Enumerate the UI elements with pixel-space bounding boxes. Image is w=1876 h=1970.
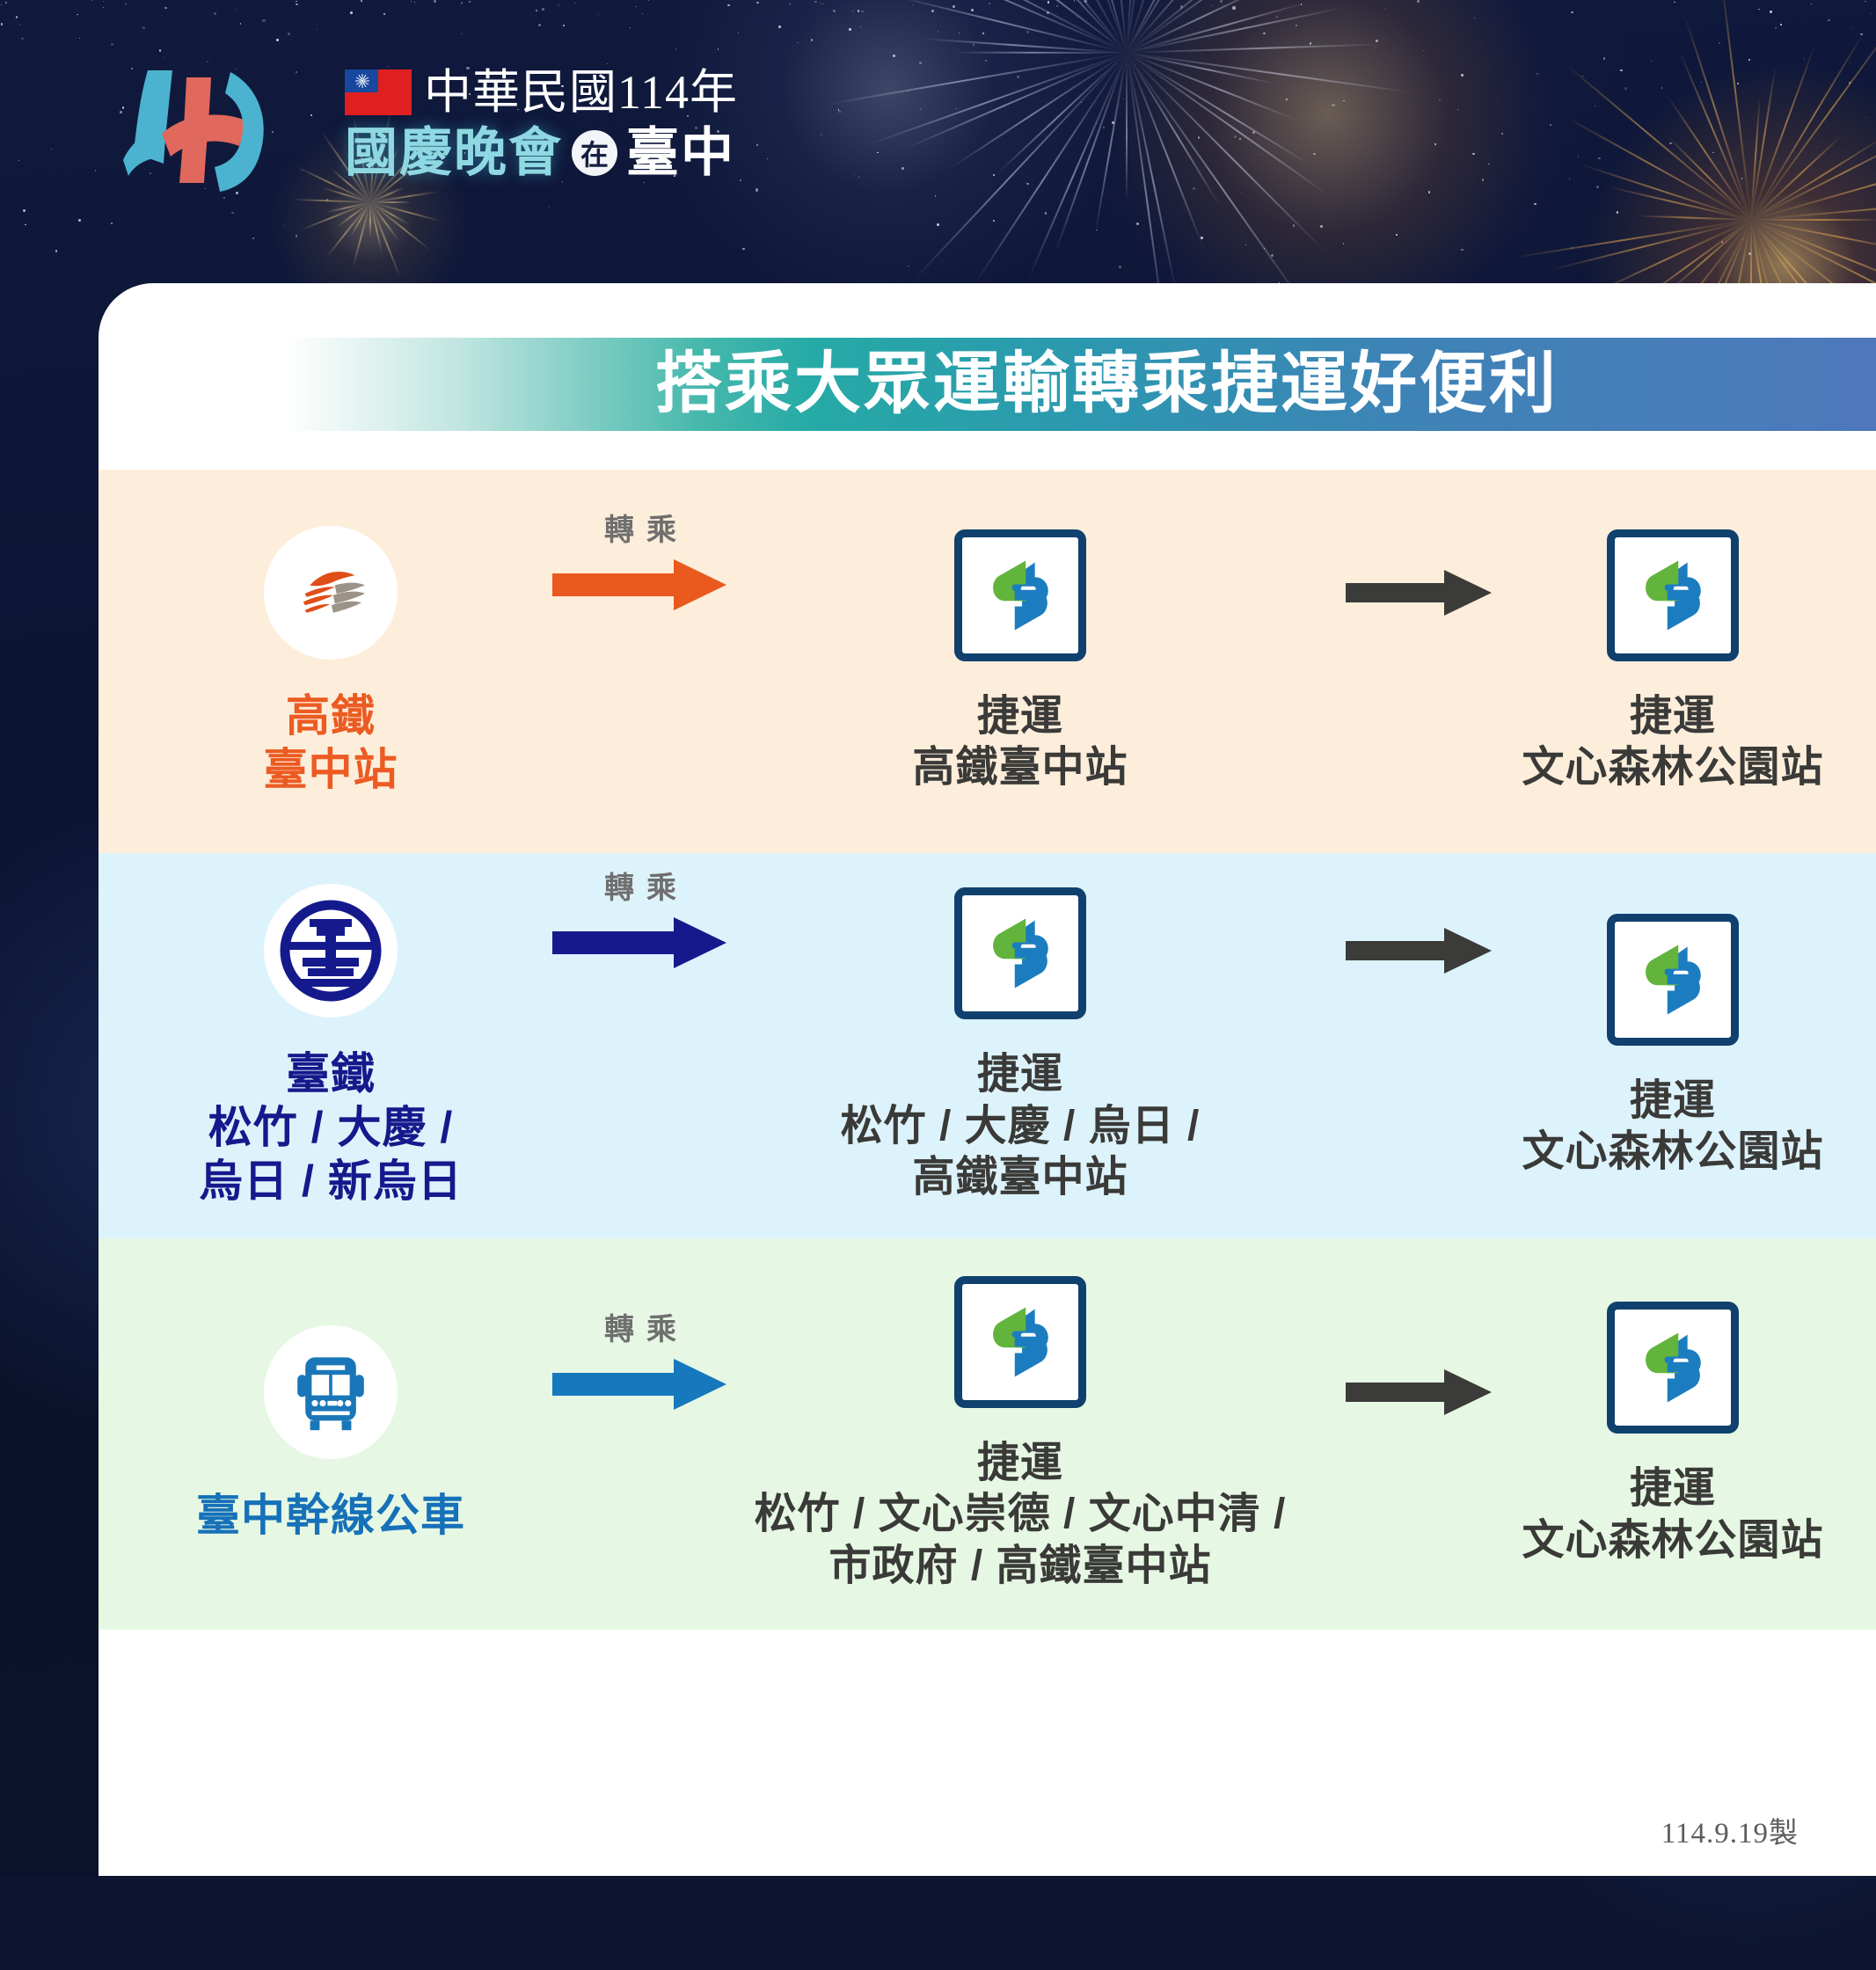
roc-flag-icon bbox=[345, 69, 412, 115]
origin-label-line-2: 松竹 / 大慶 / bbox=[158, 1101, 503, 1155]
route-origin-tra: 臺鐵松竹 / 大慶 /烏日 / 新烏日 bbox=[158, 884, 503, 1208]
transfer-arrow-icon bbox=[552, 916, 728, 970]
taichung-mrt-logo-box bbox=[954, 887, 1086, 1019]
destination-label-line-1: 捷運 bbox=[1471, 1463, 1875, 1515]
event-logo-text: 中華民國114年 國慶晚會 在 臺中 bbox=[345, 69, 738, 179]
transfer-arrow-group-tra: 轉乘 bbox=[517, 864, 763, 970]
middle-label-line-1: 捷運 bbox=[739, 1049, 1302, 1101]
footer-note: 114.9.19製 bbox=[1661, 1809, 1799, 1851]
taichung-mrt-logo-icon bbox=[974, 908, 1066, 999]
taichung-mrt-logo-icon bbox=[1627, 550, 1719, 641]
destination-label-line-2: 文心森林公園站 bbox=[1471, 1127, 1875, 1178]
hsr-logo-icon bbox=[285, 547, 376, 638]
taichung-mrt-logo-box bbox=[1607, 1302, 1739, 1434]
route-transfer-station-bus: 捷運松竹 / 文心崇德 / 文心中清 /市政府 / 高鐵臺中站 bbox=[739, 1276, 1302, 1593]
transfer-label: 轉乘 bbox=[517, 864, 763, 907]
middle-label-line-1: 捷運 bbox=[739, 1438, 1302, 1490]
tra-logo-icon-wrapper bbox=[264, 884, 398, 1018]
middle-label-line-2: 松竹 / 大慶 / 烏日 / bbox=[739, 1101, 1302, 1153]
origin-label-line-1: 高鐵 bbox=[158, 689, 503, 743]
roc-year-text: 中華民國114年 bbox=[424, 69, 738, 116]
transfer-route-row: 臺鐵松竹 / 大慶 /烏日 / 新烏日轉乘 捷運松竹 / 大慶 / 烏日 /高鐵… bbox=[99, 853, 1876, 1238]
event-city-text: 臺中 bbox=[626, 127, 735, 179]
transfer-label: 轉乘 bbox=[517, 506, 763, 549]
route-destination-bus: 捷運文心森林公園站 bbox=[1471, 1302, 1875, 1566]
destination-label-line-1: 捷運 bbox=[1471, 691, 1875, 743]
middle-label-line-3: 高鐵臺中站 bbox=[739, 1152, 1302, 1204]
transfer-label: 轉乘 bbox=[517, 1305, 763, 1348]
middle-label-line-2: 松竹 / 文心崇德 / 文心中清 / bbox=[739, 1489, 1302, 1541]
transfer-arrow-icon bbox=[552, 1357, 728, 1412]
transfer-arrow-icon bbox=[552, 558, 728, 612]
transfer-route-list: 高鐵臺中站轉乘 捷運高鐵臺中站 捷運文心森林公園站 臺鐵松竹 / 大慶 /烏日 … bbox=[99, 470, 1876, 1630]
taichung-mrt-logo-icon bbox=[1627, 1322, 1719, 1413]
transfer-route-row: 高鐵臺中站轉乘 捷運高鐵臺中站 捷運文心森林公園站 bbox=[99, 470, 1876, 853]
event-logo-line-1: 中華民國114年 bbox=[345, 69, 738, 116]
route-destination-hsr: 捷運文心森林公園站 bbox=[1471, 529, 1875, 794]
route-transfer-station-hsr: 捷運高鐵臺中站 bbox=[739, 529, 1302, 794]
origin-label-line-1: 臺鐵 bbox=[158, 1047, 503, 1101]
route-destination-tra: 捷運文心森林公園站 bbox=[1471, 914, 1875, 1178]
middle-label-line-3: 市政府 / 高鐵臺中站 bbox=[739, 1541, 1302, 1593]
taichung-mrt-logo-box bbox=[1607, 529, 1739, 661]
route-origin-hsr: 高鐵臺中站 bbox=[158, 526, 503, 797]
bus-icon bbox=[283, 1345, 378, 1440]
origin-label-line-2: 臺中站 bbox=[158, 743, 503, 797]
middle-label-line-1: 捷運 bbox=[739, 691, 1302, 743]
tra-logo-icon bbox=[278, 898, 383, 1003]
middle-label-line-2: 高鐵臺中站 bbox=[739, 742, 1302, 794]
destination-label-line-1: 捷運 bbox=[1471, 1076, 1875, 1127]
origin-label-line-3: 烏日 / 新烏日 bbox=[158, 1155, 503, 1208]
transfer-arrow-group-hsr: 轉乘 bbox=[517, 506, 763, 612]
taichung-mrt-logo-box bbox=[1607, 914, 1739, 1046]
event-header: 中華民國114年 國慶晚會 在 臺中 bbox=[0, 0, 1876, 264]
destination-label-line-2: 文心森林公園站 bbox=[1471, 742, 1875, 794]
taichung-mrt-logo-box bbox=[954, 1276, 1086, 1408]
taichung-mrt-logo-icon bbox=[974, 1296, 1066, 1388]
transfer-arrow-group-bus: 轉乘 bbox=[517, 1305, 763, 1412]
event-logo-brushmark bbox=[107, 55, 327, 195]
event-logo-line-2: 國慶晚會 在 臺中 bbox=[345, 127, 738, 179]
banner-title-bar: 搭乘大眾運輸轉乘捷運好便利 bbox=[285, 338, 1876, 431]
hsr-logo-icon-wrapper bbox=[264, 526, 398, 660]
in-badge: 在 bbox=[572, 130, 617, 176]
destination-label-line-2: 文心森林公園站 bbox=[1471, 1515, 1875, 1567]
route-origin-bus: 臺中幹線公車 bbox=[158, 1325, 503, 1543]
taichung-mrt-logo-icon bbox=[974, 550, 1066, 641]
route-transfer-station-tra: 捷運松竹 / 大慶 / 烏日 /高鐵臺中站 bbox=[739, 887, 1302, 1204]
bus-icon-wrapper bbox=[264, 1325, 398, 1459]
event-name-text: 國慶晚會 bbox=[345, 127, 563, 179]
taichung-mrt-logo-box bbox=[954, 529, 1086, 661]
page-title: 搭乘大眾運輸轉乘捷運好便利 bbox=[602, 351, 1558, 418]
content-card: 搭乘大眾運輸轉乘捷運好便利 高鐵臺中站轉乘 捷運高鐵臺中站 捷運文心森林公園站 bbox=[99, 283, 1876, 1876]
taichung-mrt-logo-icon bbox=[1627, 934, 1719, 1025]
origin-label-line-1: 臺中幹線公車 bbox=[158, 1489, 503, 1543]
transfer-route-row: 臺中幹線公車轉乘 捷運松竹 / 文心崇德 / 文心中清 /市政府 / 高鐵臺中站… bbox=[99, 1238, 1876, 1630]
